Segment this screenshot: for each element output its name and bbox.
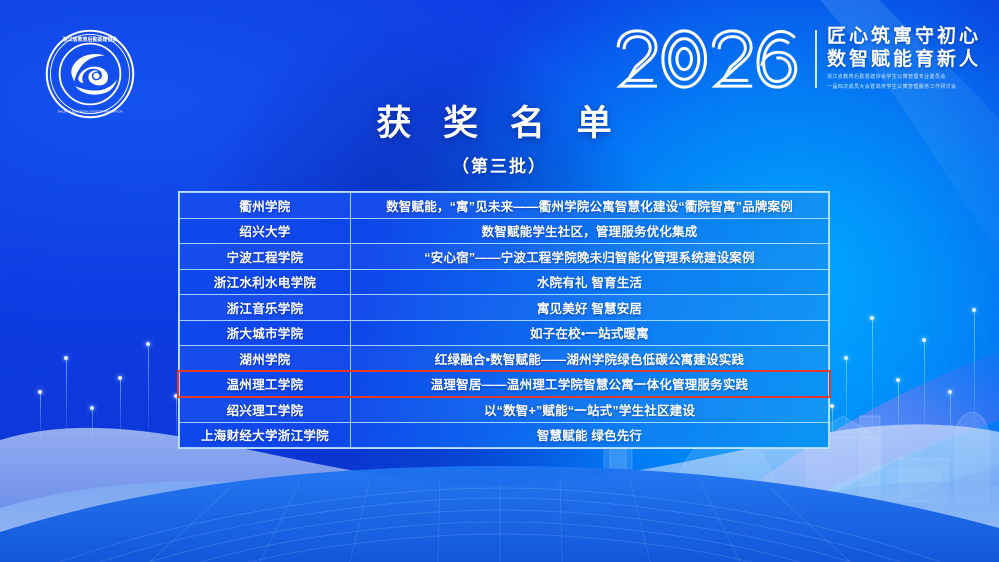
year-2026-logo	[610, 26, 805, 92]
cell-school: 绍兴大学	[180, 218, 351, 244]
table-row: 湖州学院红绿融合•数智赋能——湖州学院绿色低碳公寓建设实践	[180, 346, 829, 372]
table-row: 宁波工程学院“安心宿”——宁波工程学院晚未归智能化管理系统建设案例	[180, 244, 829, 270]
cell-case: 温理智居——温州理工学院智慧公寓一体化管理服务实践	[351, 371, 829, 397]
cell-case: 智慧赋能 绿色先行	[351, 422, 829, 448]
event-lockup: 匠心筑寓守初心 数智赋能育新人 浙江省教育后勤基建协会学生公寓管理专业委员会 一…	[610, 26, 981, 92]
title-block: 获 奖 名 单 （第三批）	[0, 104, 999, 177]
poster-canvas: 浙江省教育后勤基建协会 ZHEJIANG EDUCATION LOGISTICS…	[0, 0, 999, 562]
cell-school: 上海财经大学浙江学院	[180, 422, 351, 448]
cell-school: 宁波工程学院	[180, 244, 351, 270]
cell-school: 浙江水利水电学院	[180, 269, 351, 295]
table-row: 绍兴理工学院以“数智+”赋能“一站式”学生社区建设	[180, 397, 829, 423]
cell-case: 数智赋能，“寓”见未来——衢州学院公寓智慧化建设“衢院智寓”品牌案例	[351, 193, 829, 219]
table-row: 衢州学院数智赋能，“寓”见未来——衢州学院公寓智慧化建设“衢院智寓”品牌案例	[180, 193, 829, 219]
slogan-line-1: 匠心筑寓守初心	[827, 26, 981, 48]
table-row: 浙大城市学院如子在校•一站式暖寓	[180, 320, 829, 346]
slogan-sub-1: 浙江省教育后勤基建协会学生公寓管理专业委员会	[827, 74, 981, 82]
event-slogan: 匠心筑寓守初心 数智赋能育新人 浙江省教育后勤基建协会学生公寓管理专业委员会 一…	[827, 26, 981, 92]
table-row: 浙江水利水电学院水院有礼 智育生活	[180, 269, 829, 295]
cell-school: 绍兴理工学院	[180, 397, 351, 423]
cell-case: 如子在校•一站式暖寓	[351, 320, 829, 346]
cell-case: 红绿融合•数智赋能——湖州学院绿色低碳公寓建设实践	[351, 346, 829, 372]
cell-case: 数智赋能学生社区，管理服务优化集成	[351, 218, 829, 244]
cell-school: 浙江音乐学院	[180, 295, 351, 321]
awards-table-container: 衢州学院数智赋能，“寓”见未来——衢州学院公寓智慧化建设“衢院智寓”品牌案例绍兴…	[178, 191, 830, 449]
table-row: 温州理工学院温理智居——温州理工学院智慧公寓一体化管理服务实践	[180, 371, 829, 397]
slogan-line-2: 数智赋能育新人	[827, 49, 981, 71]
cell-case: 水院有礼 智育生活	[351, 269, 829, 295]
cell-school: 衢州学院	[180, 193, 351, 219]
table-row: 绍兴大学数智赋能学生社区，管理服务优化集成	[180, 218, 829, 244]
cell-school: 浙大城市学院	[180, 320, 351, 346]
table-row: 浙江音乐学院寓见美好 智慧安居	[180, 295, 829, 321]
lockup-divider	[815, 30, 817, 88]
svg-text:浙江省教育后勤基建协会: 浙江省教育后勤基建协会	[63, 36, 118, 43]
page-title: 获 奖 名 单	[0, 104, 999, 144]
page-subtitle: （第三批）	[0, 152, 999, 177]
awards-table: 衢州学院数智赋能，“寓”见未来——衢州学院公寓智慧化建设“衢院智寓”品牌案例绍兴…	[179, 192, 829, 448]
cell-school: 湖州学院	[180, 346, 351, 372]
cell-school: 温州理工学院	[180, 371, 351, 397]
table-row: 上海财经大学浙江学院智慧赋能 绿色先行	[180, 422, 829, 448]
cell-case: 以“数智+”赋能“一站式”学生社区建设	[351, 397, 829, 423]
cell-case: 寓见美好 智慧安居	[351, 295, 829, 321]
slogan-sub-2: 一届四次成员大会暨高校学生公寓管理服务工作研讨会	[827, 84, 981, 92]
cell-case: “安心宿”——宁波工程学院晚未归智能化管理系统建设案例	[351, 244, 829, 270]
